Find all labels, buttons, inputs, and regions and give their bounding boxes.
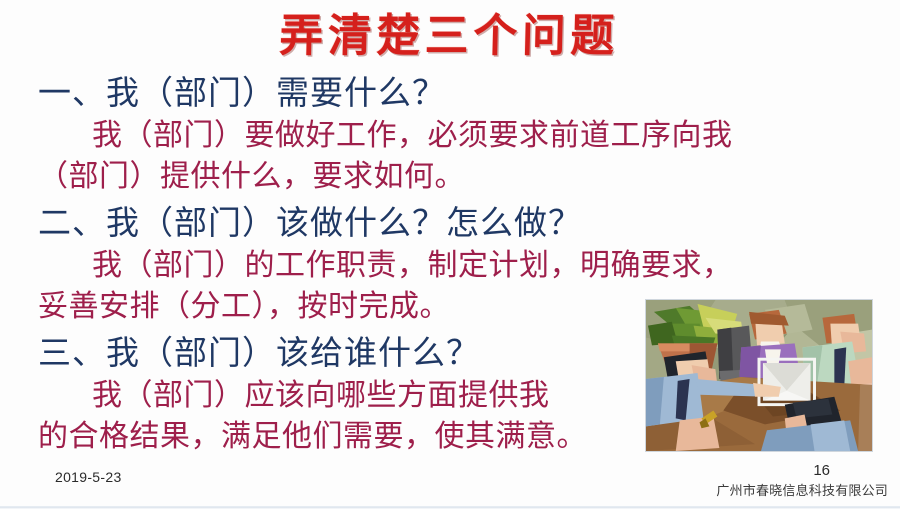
footer-company-name: 广州市春晓信息科技有限公司 xyxy=(716,480,888,499)
section-one-heading: 一、我（部门）需要什么？ xyxy=(30,70,880,115)
section-one: 一、我（部门）需要什么？ 我（部门）要做好工作，必须要求前道工序向我 （部门）提… xyxy=(30,70,880,197)
section-two-line-1: 我（部门）的工作职责，制定计划，明确要求， xyxy=(30,245,880,286)
footer-date: 2019-5-23 xyxy=(55,469,122,485)
section-two-heading: 二、我（部门）该做什么？怎么做？ xyxy=(30,200,880,245)
envelope-document xyxy=(759,359,815,404)
footer-page-number: 16 xyxy=(813,462,830,479)
slide-title: 弄清楚三个问题 xyxy=(12,8,886,64)
meeting-illustration-graphic xyxy=(646,300,872,451)
slide-canvas: 弄清楚三个问题 一、我（部门）需要什么？ 我（部门）要做好工作，必须要求前道工序… xyxy=(0,0,900,509)
section-one-line-2: （部门）提供什么，要求如何。 xyxy=(30,156,880,197)
section-one-line-1: 我（部门）要做好工作，必须要求前道工序向我 xyxy=(30,115,880,156)
meeting-illustration xyxy=(645,299,873,452)
